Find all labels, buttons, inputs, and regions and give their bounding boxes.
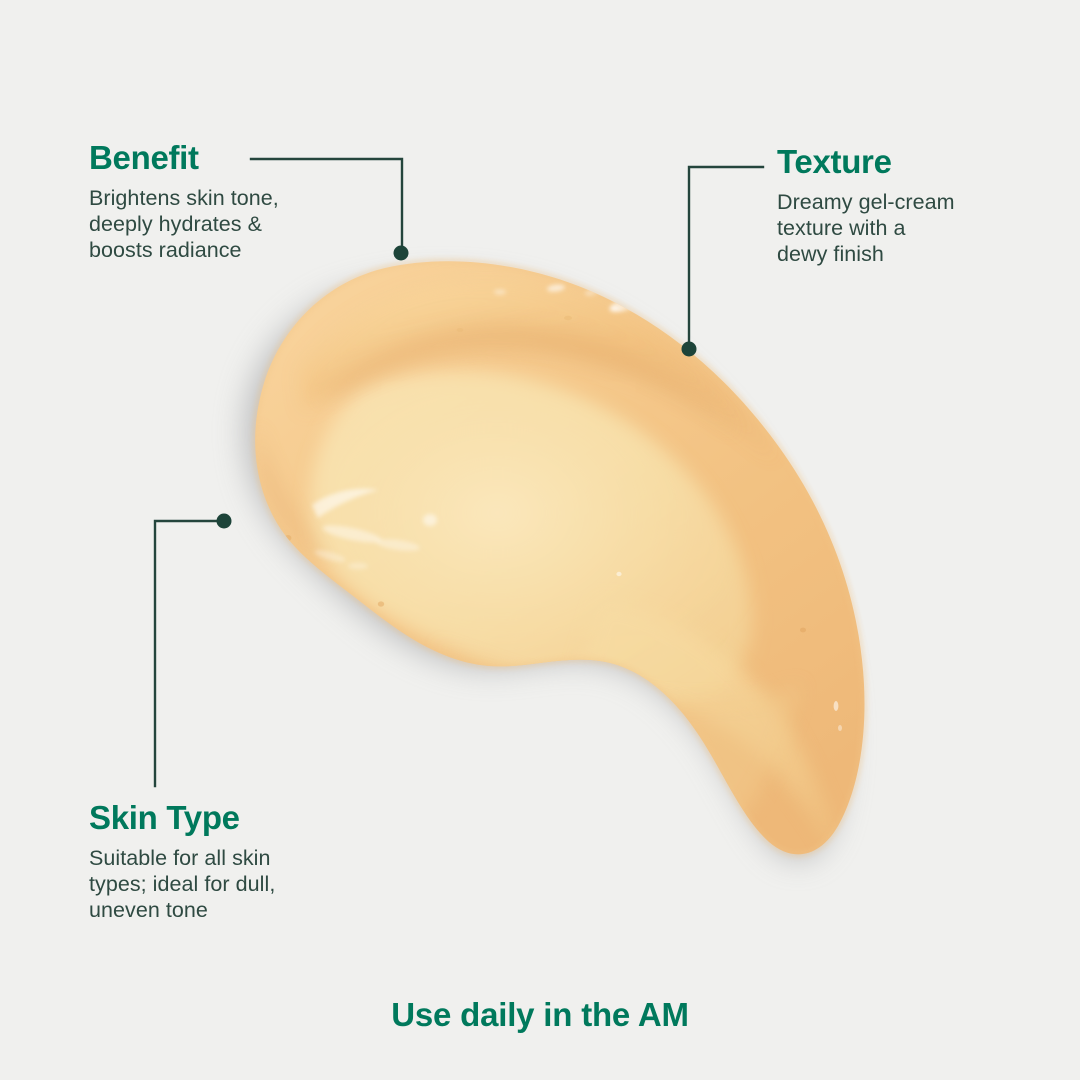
leader-dot-skin-type (217, 514, 232, 529)
callout-benefit-body-line-2: deeply hydrates & (89, 211, 349, 237)
callout-skin-type-title: Skin Type (89, 801, 349, 836)
callout-skin-type-body-line-2: types; ideal for dull, (89, 871, 349, 897)
leader-line-skin-type (155, 521, 218, 786)
callout-texture-body-line-3: dewy finish (777, 241, 1027, 267)
callout-texture-title: Texture (777, 145, 1027, 180)
callout-benefit: Benefit Brightens skin tone, deeply hydr… (89, 141, 349, 263)
callout-skin-type-body: Suitable for all skin types; ideal for d… (89, 845, 349, 924)
callout-texture: Texture Dreamy gel-cream texture with a … (777, 145, 1027, 267)
callout-benefit-body: Brightens skin tone, deeply hydrates & b… (89, 185, 349, 264)
leader-dot-texture (682, 342, 697, 357)
callout-texture-body: Dreamy gel-cream texture with a dewy fin… (777, 189, 1027, 268)
callout-skin-type-body-line-3: uneven tone (89, 897, 349, 923)
callout-benefit-title: Benefit (89, 141, 349, 176)
footer-caption: Use daily in the AM (0, 996, 1080, 1034)
callout-benefit-body-line-3: boosts radiance (89, 237, 349, 263)
swatch-specks (285, 316, 842, 731)
callout-skin-type-body-line-1: Suitable for all skin (89, 845, 349, 871)
swatch-body (255, 261, 864, 854)
leader-line-texture (689, 167, 763, 343)
swatch-highlights (494, 283, 724, 353)
callout-texture-body-line-1: Dreamy gel-cream (777, 189, 1027, 215)
infographic-canvas: Benefit Brightens skin tone, deeply hydr… (0, 0, 1080, 1080)
swatch-shadow (246, 280, 843, 859)
leader-dot-benefit (394, 246, 409, 261)
callout-texture-body-line-2: texture with a (777, 215, 1027, 241)
callout-skin-type: Skin Type Suitable for all skin types; i… (89, 801, 349, 923)
swatch-gloss-pool (312, 489, 437, 570)
callout-benefit-body-line-1: Brightens skin tone, (89, 185, 349, 211)
